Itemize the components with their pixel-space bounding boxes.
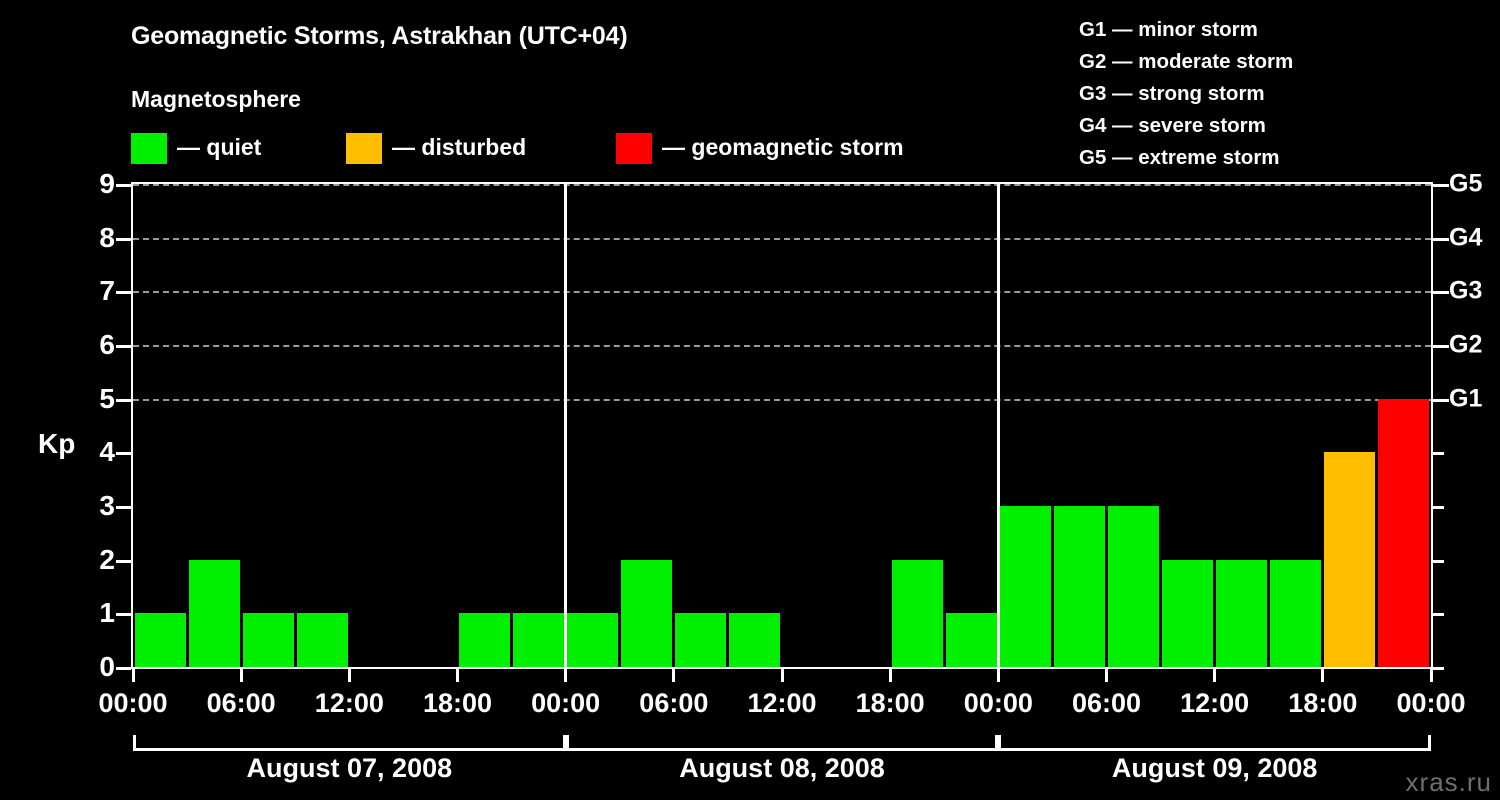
g-tick-mark-G2: [1433, 345, 1449, 348]
x-tick-label-0: 00:00: [98, 688, 167, 719]
y-tick-label-6: 6: [99, 331, 115, 359]
y-tick-mark-7: [116, 291, 131, 294]
g-legend-row-1: G1 — minor storm: [1079, 14, 1293, 46]
x-tick-mark-12: [1430, 669, 1433, 682]
y-tick-mark-1: [116, 613, 131, 616]
y-tick-mark-9: [116, 184, 131, 187]
g-tick-label-G1: G1: [1449, 384, 1482, 413]
day-separator-1: [564, 184, 567, 667]
g-tick-mark-G1: [1433, 399, 1449, 402]
bar[interactable]: [297, 613, 348, 667]
y-tick-mark-5: [116, 399, 131, 402]
x-tick-label-7: 18:00: [856, 688, 925, 719]
chart-subtitle: Magnetosphere: [131, 86, 301, 113]
x-tick-mark-4: [564, 669, 567, 682]
g-scale-legend: G1 — minor stormG2 — moderate stormG3 — …: [1079, 14, 1293, 174]
g-legend-row-2: G2 — moderate storm: [1079, 46, 1293, 78]
g-tick-mark-G5: [1433, 184, 1449, 187]
red-swatch-icon: [616, 133, 652, 164]
g-tick-label-G3: G3: [1449, 277, 1482, 306]
y-axis-label: Kp: [38, 428, 75, 460]
bar[interactable]: [1054, 506, 1105, 667]
y-tick-label-4: 4: [99, 438, 115, 466]
x-tick-label-2: 12:00: [315, 688, 384, 719]
bar[interactable]: [189, 560, 240, 667]
bar[interactable]: [459, 613, 510, 667]
g-minor-tick-0: [1433, 667, 1444, 670]
day-bracket-1: [133, 735, 566, 751]
x-tick-label-11: 18:00: [1288, 688, 1357, 719]
x-tick-mark-1: [240, 669, 243, 682]
y-tick-label-7: 7: [99, 277, 115, 305]
bar[interactable]: [675, 613, 726, 667]
gridline-kp-5: [133, 399, 1431, 401]
g-tick-label-G4: G4: [1449, 223, 1482, 252]
gridline-kp-6: [133, 345, 1431, 347]
plot-area: [131, 182, 1433, 669]
watermark: xras.ru: [1406, 767, 1492, 798]
g-legend-row-4: G4 — severe storm: [1079, 110, 1293, 142]
g-minor-tick-1: [1433, 613, 1444, 616]
day-bracket-3: [998, 735, 1431, 751]
x-tick-mark-10: [1213, 669, 1216, 682]
plot-inner: [133, 184, 1431, 667]
bar[interactable]: [892, 560, 943, 667]
green-swatch-icon: [131, 133, 167, 164]
y-tick-mark-0: [116, 667, 131, 670]
gridline-kp-8: [133, 238, 1431, 240]
y-tick-mark-2: [116, 560, 131, 563]
g-minor-tick-2: [1433, 560, 1444, 563]
x-tick-label-3: 18:00: [423, 688, 492, 719]
g-minor-tick-3: [1433, 506, 1444, 509]
x-tick-mark-2: [348, 669, 351, 682]
y-tick-mark-4: [116, 452, 131, 455]
y-tick-mark-3: [116, 506, 131, 509]
bar[interactable]: [1000, 506, 1051, 667]
x-tick-label-4: 00:00: [531, 688, 600, 719]
legend-item-label: — disturbed: [392, 134, 526, 161]
bar[interactable]: [1378, 399, 1429, 667]
x-tick-label-12: 00:00: [1396, 688, 1465, 719]
y-tick-label-9: 9: [99, 170, 115, 198]
x-tick-mark-9: [1105, 669, 1108, 682]
bar[interactable]: [1216, 560, 1267, 667]
y-tick-mark-8: [116, 238, 131, 241]
gridline-kp-7: [133, 291, 1431, 293]
bar[interactable]: [1162, 560, 1213, 667]
x-tick-mark-8: [997, 669, 1000, 682]
g-legend-row-3: G3 — strong storm: [1079, 78, 1293, 110]
bar[interactable]: [135, 613, 186, 667]
bar[interactable]: [1270, 560, 1321, 667]
bar[interactable]: [946, 613, 997, 667]
x-tick-label-10: 12:00: [1180, 688, 1249, 719]
y-tick-label-1: 1: [99, 599, 115, 627]
y-tick-label-0: 0: [99, 653, 115, 681]
g-tick-label-G2: G2: [1449, 331, 1482, 360]
y-tick-mark-6: [116, 345, 131, 348]
g-minor-tick-4: [1433, 452, 1444, 455]
x-tick-label-8: 00:00: [964, 688, 1033, 719]
x-tick-mark-7: [889, 669, 892, 682]
gridline-kp-9: [133, 184, 1431, 186]
x-tick-label-9: 06:00: [1072, 688, 1141, 719]
bar[interactable]: [1324, 452, 1375, 667]
y-tick-label-2: 2: [99, 546, 115, 574]
x-tick-mark-11: [1321, 669, 1324, 682]
g-tick-mark-G4: [1433, 238, 1449, 241]
chart-page: Geomagnetic Storms, Astrakhan (UTC+04) M…: [0, 0, 1500, 800]
bar[interactable]: [243, 613, 294, 667]
x-tick-label-1: 06:00: [207, 688, 276, 719]
day-label-1: August 07, 2008: [247, 753, 453, 784]
x-tick-mark-3: [456, 669, 459, 682]
y-tick-label-5: 5: [99, 385, 115, 413]
day-label-3: August 09, 2008: [1112, 753, 1318, 784]
g-tick-label-G5: G5: [1449, 170, 1482, 199]
day-label-2: August 08, 2008: [679, 753, 885, 784]
bar[interactable]: [729, 613, 780, 667]
g-tick-mark-G3: [1433, 291, 1449, 294]
bar[interactable]: [567, 613, 618, 667]
page-title: Geomagnetic Storms, Astrakhan (UTC+04): [131, 22, 627, 51]
x-tick-label-5: 06:00: [639, 688, 708, 719]
y-tick-label-8: 8: [99, 224, 115, 252]
x-tick-mark-6: [781, 669, 784, 682]
x-tick-label-6: 12:00: [747, 688, 816, 719]
legend-item-label: — geomagnetic storm: [662, 134, 904, 161]
orange-swatch-icon: [346, 133, 382, 164]
day-bracket-2: [566, 735, 999, 751]
y-tick-label-3: 3: [99, 492, 115, 520]
bar[interactable]: [513, 613, 564, 667]
legend-item-label: — quiet: [177, 134, 261, 161]
bar[interactable]: [621, 560, 672, 667]
x-tick-mark-5: [672, 669, 675, 682]
bar[interactable]: [1108, 506, 1159, 667]
x-tick-mark-0: [132, 669, 135, 682]
g-legend-row-5: G5 — extreme storm: [1079, 142, 1293, 174]
